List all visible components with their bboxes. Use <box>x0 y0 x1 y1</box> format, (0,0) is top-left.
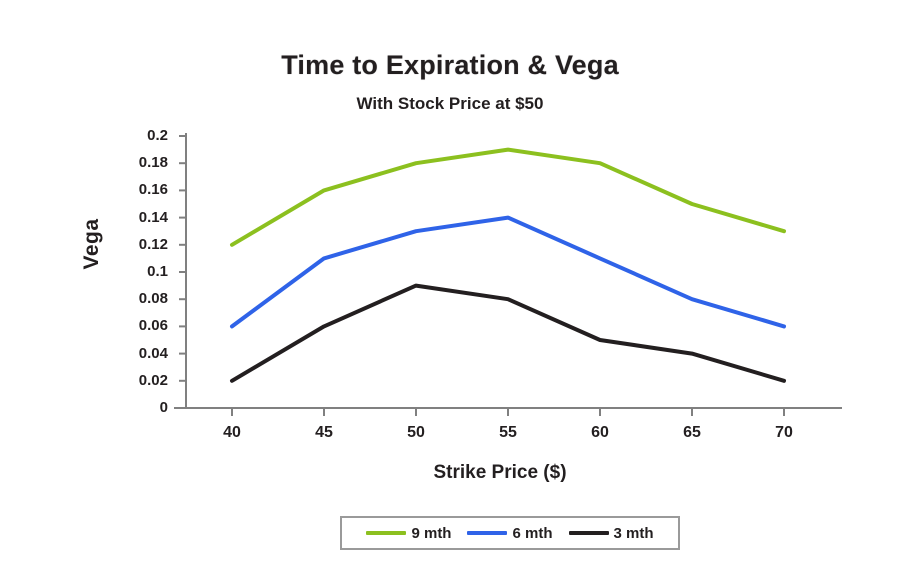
y-axis-tick-label: 0.06 <box>110 317 168 334</box>
y-axis-title: Vega <box>80 144 104 344</box>
y-axis-tick-label: 0.18 <box>110 154 168 171</box>
x-axis-tick-label: 40 <box>207 424 257 442</box>
chart-figure: Time to Expiration & Vega With Stock Pri… <box>0 0 900 586</box>
x-axis-tick-label: 65 <box>667 424 717 442</box>
x-axis-tick-label: 60 <box>575 424 625 442</box>
legend-label: 6 mth <box>512 525 552 542</box>
x-axis-title: Strike Price ($) <box>185 462 815 484</box>
y-axis-tick-label: 0.14 <box>110 209 168 226</box>
y-axis-tick-label: 0.2 <box>110 127 168 144</box>
chart-legend: 9 mth6 mth3 mth <box>340 516 680 550</box>
y-axis-tick-label: 0 <box>110 399 168 416</box>
data-series <box>232 150 784 381</box>
legend-item-9-mth[interactable]: 9 mth <box>358 525 459 542</box>
y-axis-tick-label: 0.04 <box>110 345 168 362</box>
legend-item-3-mth[interactable]: 3 mth <box>561 525 662 542</box>
y-axis-tick-label: 0.02 <box>110 372 168 389</box>
series-line-6-mth <box>232 218 784 327</box>
legend-label: 3 mth <box>614 525 654 542</box>
y-axis-tick-label: 0.1 <box>110 263 168 280</box>
legend-item-6-mth[interactable]: 6 mth <box>459 525 560 542</box>
x-axis-tick-label: 55 <box>483 424 533 442</box>
x-axis-tick-label: 45 <box>299 424 349 442</box>
legend-swatch-icon <box>569 531 609 535</box>
legend-label: 9 mth <box>411 525 451 542</box>
y-axis-tick-label: 0.16 <box>110 181 168 198</box>
y-axis-tick-label: 0.08 <box>110 290 168 307</box>
series-line-9-mth <box>232 150 784 245</box>
axes <box>174 133 842 416</box>
x-axis-tick-label: 50 <box>391 424 441 442</box>
legend-swatch-icon <box>366 531 406 535</box>
y-axis-tick-label: 0.12 <box>110 236 168 253</box>
x-axis-tick-label: 70 <box>759 424 809 442</box>
legend-swatch-icon <box>467 531 507 535</box>
